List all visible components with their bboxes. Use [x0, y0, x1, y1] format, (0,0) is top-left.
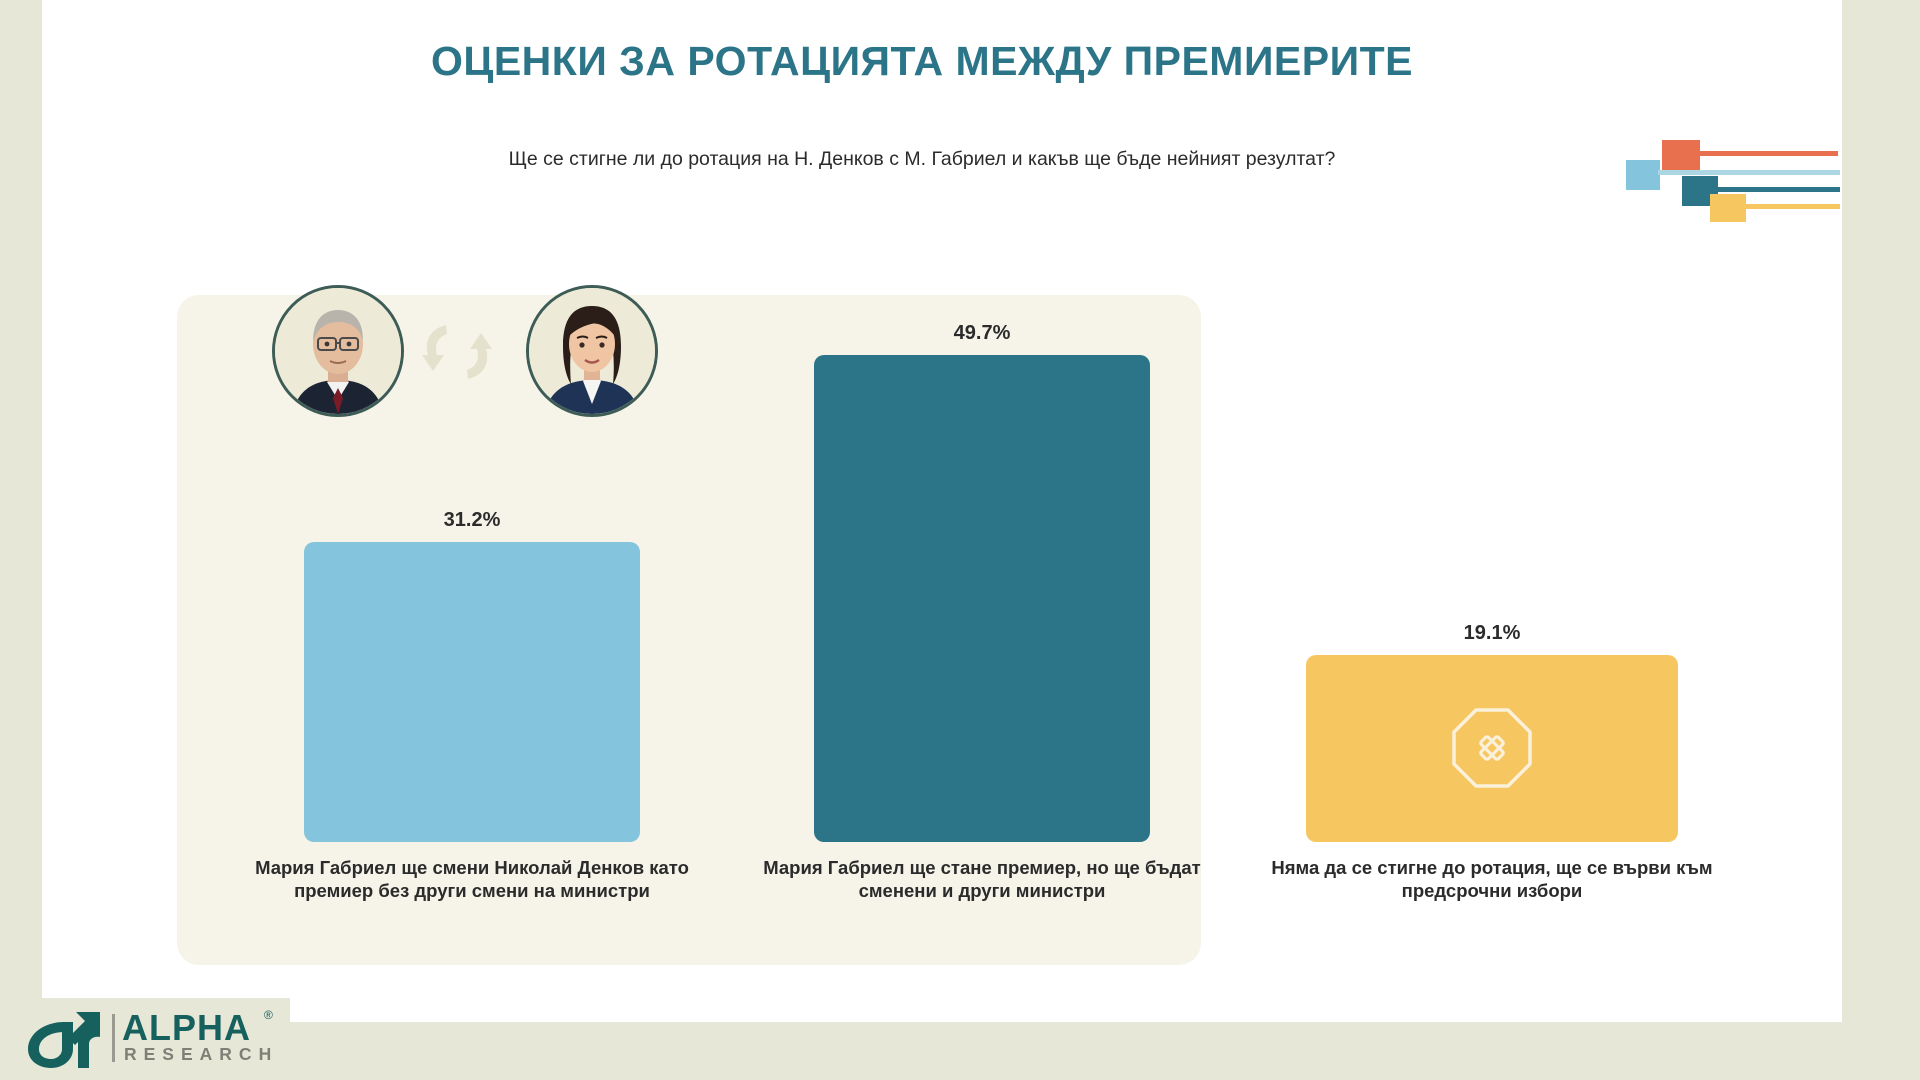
octagon-x-stop-icon: [1449, 705, 1535, 791]
deco-line-coral: [1698, 151, 1838, 156]
alpha-arrow-mark: [18, 1008, 114, 1070]
deco-square-coral: [1662, 140, 1700, 170]
bar-chart: 31.2% Мария Габриел ще смени Николай Ден…: [42, 255, 1842, 955]
alpha-research-logo: ALPHA ® RESEARCH: [18, 1008, 290, 1070]
rotation-arrows-icon: [416, 311, 498, 393]
logo-registered-mark: ®: [264, 1008, 273, 1022]
logo-divider: [112, 1014, 115, 1062]
bar-value-2: 49.7%: [752, 322, 1212, 345]
deco-square-lightblue: [1626, 160, 1660, 190]
bar-value-1: 31.2%: [242, 509, 702, 532]
bar-group-1: 31.2% Мария Габриел ще смени Николай Ден…: [242, 509, 702, 903]
page-subtitle: Ще се стигне ли до ротация на Н. Денков …: [42, 148, 1802, 171]
avatar-denkov: [272, 285, 404, 417]
bar-caption-1: Мария Габриел ще смени Николай Денков ка…: [242, 856, 702, 903]
deco-line-lightblue: [1658, 170, 1840, 175]
bar-3[interactable]: [1306, 655, 1678, 842]
logo-research-text: RESEARCH: [124, 1046, 278, 1064]
portrait-group: [272, 285, 652, 417]
bar-accent-mark: [1640, 132, 1850, 204]
slide-canvas: ОЦЕНКИ ЗА РОТАЦИЯТА МЕЖДУ ПРЕМИЕРИТЕ Ще …: [42, 0, 1842, 1022]
bar-2[interactable]: [814, 355, 1150, 842]
deco-line-teal: [1716, 187, 1840, 192]
avatar-gabriel: [526, 285, 658, 417]
page-title: ОЦЕНКИ ЗА РОТАЦИЯТА МЕЖДУ ПРЕМИЕРИТЕ: [42, 38, 1802, 85]
logo-band: ALPHA ® RESEARCH: [0, 998, 290, 1080]
bar-value-3: 19.1%: [1257, 622, 1727, 645]
bar-1[interactable]: [304, 542, 640, 842]
logo-alpha-text: ALPHA: [122, 1010, 251, 1046]
deco-square-yellow: [1710, 194, 1746, 222]
deco-line-yellow: [1744, 204, 1840, 209]
bar-group-3: 19.1% Няма да се стигне до ротация, ще с…: [1257, 622, 1727, 903]
bar-caption-3: Няма да се стигне до ротация, ще се върв…: [1257, 856, 1727, 903]
bar-group-2: 49.7% Мария Габриел ще стане премиер, но…: [752, 322, 1212, 903]
bar-caption-2: Мария Габриел ще стане премиер, но ще бъ…: [752, 856, 1212, 903]
